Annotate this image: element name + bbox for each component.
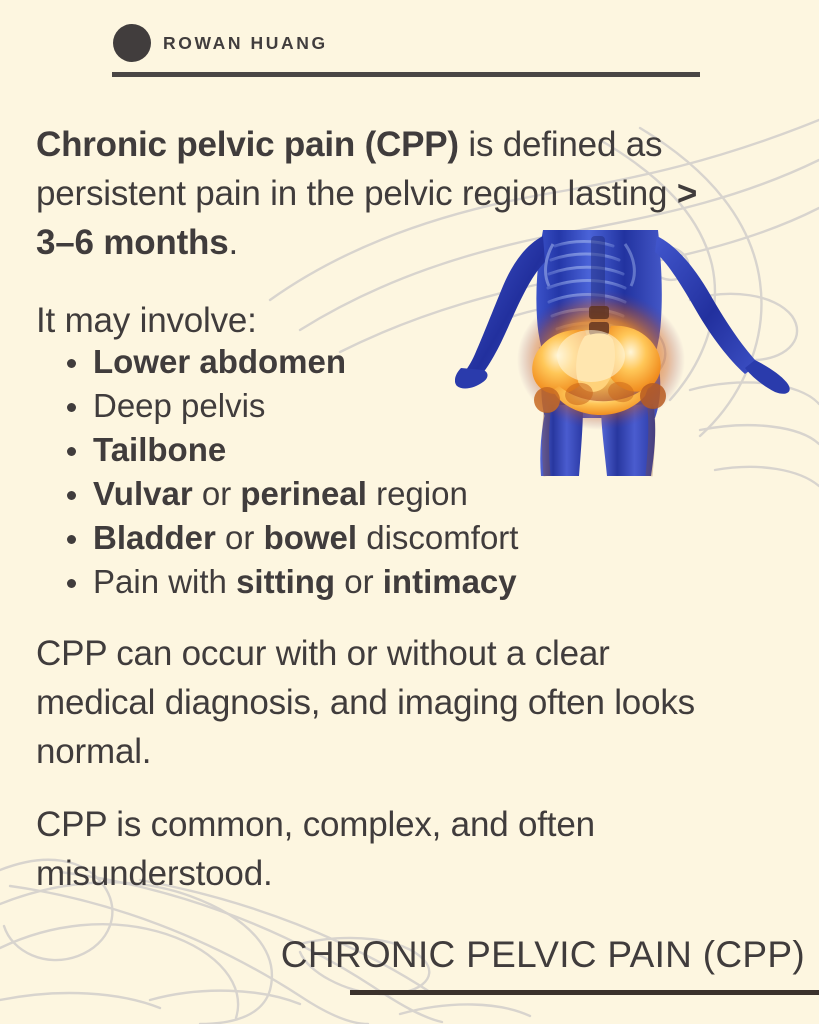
list-item-text-1: or <box>216 519 264 556</box>
filled-circle-icon <box>113 24 151 62</box>
paragraph-3: CPP is common, complex, and often misund… <box>36 800 726 898</box>
list-item-text-1: Deep pelvis <box>93 387 265 424</box>
list-item-bold-3: intimacy <box>383 563 517 600</box>
lead-text-2: . <box>229 223 239 262</box>
list-item-text-1: Pain with <box>93 563 236 600</box>
list-item: Deep pelvis <box>60 384 620 428</box>
footer-divider <box>350 990 819 995</box>
list-item-bold-1: Bladder <box>93 519 216 556</box>
symptom-list: Lower abdomen Deep pelvis Tailbone Vulva… <box>60 340 620 604</box>
lead-bold-1: Chronic pelvic pain (CPP) <box>36 125 459 164</box>
list-item-text-2: region <box>367 475 468 512</box>
list-item: Lower abdomen <box>60 340 620 384</box>
list-item-bold-2: bowel <box>264 519 358 556</box>
brand-name: ROWAN HUANG <box>163 33 328 54</box>
footer-title: CHRONIC PELVIC PAIN (CPP) <box>281 934 805 976</box>
list-item-bold-2: perineal <box>240 475 367 512</box>
list-item-bold-1: Tailbone <box>93 431 226 468</box>
header: ROWAN HUANG <box>0 0 819 90</box>
list-item: Tailbone <box>60 428 620 472</box>
lead-paragraph: Chronic pelvic pain (CPP) is defined as … <box>36 120 736 267</box>
list-item: Vulvar or perineal region <box>60 472 620 516</box>
list-item: Bladder or bowel discomfort <box>60 516 620 560</box>
list-item-bold-1: Vulvar <box>93 475 193 512</box>
list-item-text-1: or <box>193 475 241 512</box>
list-item: Pain with sitting or intimacy <box>60 560 620 604</box>
main-content: Chronic pelvic pain (CPP) is defined as … <box>0 0 819 1024</box>
brand: ROWAN HUANG <box>113 24 328 62</box>
infographic-page: ROWAN HUANG <box>0 0 819 1024</box>
list-item-bold-1: Lower abdomen <box>93 343 346 380</box>
header-divider <box>112 72 700 77</box>
list-item-text-2: or <box>335 563 383 600</box>
list-item-text-2: discomfort <box>357 519 518 556</box>
list-item-bold-2: sitting <box>236 563 335 600</box>
intro-line: It may involve: <box>36 296 556 345</box>
paragraph-2: CPP can occur with or without a clear me… <box>36 629 726 776</box>
